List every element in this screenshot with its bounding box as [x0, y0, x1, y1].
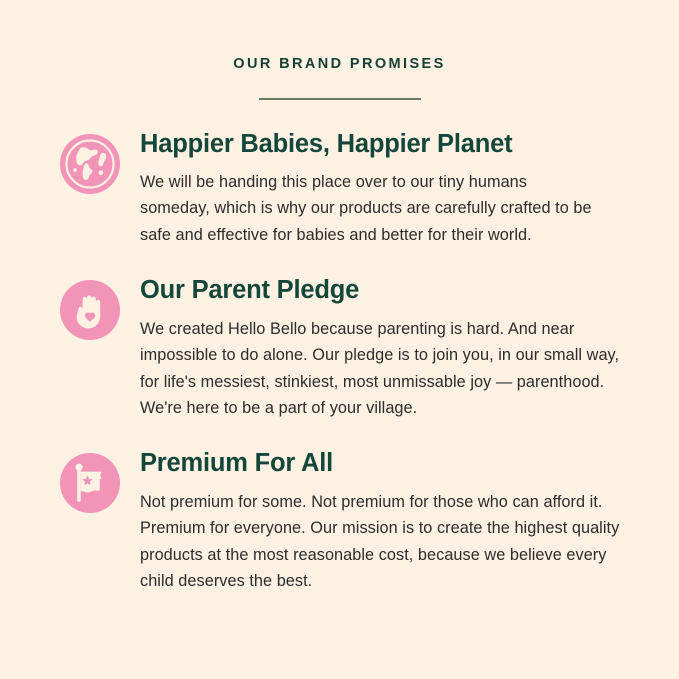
promise-content: Happier Babies, Happier Planet We will b… — [140, 130, 633, 249]
promise-text: Not premium for some. Not premium for th… — [140, 489, 620, 595]
promise-text: We created Hello Bello because parenting… — [140, 316, 624, 422]
promise-item-premium-for-all: Premium For All Not premium for some. No… — [60, 449, 633, 594]
globe-icon — [60, 134, 120, 194]
brand-promises-page: OUR BRAND PROMISES — [0, 0, 679, 679]
promise-content: Our Parent Pledge We created Hello Bello… — [140, 276, 633, 421]
promise-item-parent-pledge: Our Parent Pledge We created Hello Bello… — [60, 276, 633, 421]
page-header: OUR BRAND PROMISES — [0, 0, 679, 100]
promise-title: Premium For All — [140, 449, 633, 478]
page-title: OUR BRAND PROMISES — [0, 57, 679, 72]
header-divider — [259, 98, 421, 100]
promise-list: Happier Babies, Happier Planet We will b… — [0, 130, 679, 595]
promise-title: Our Parent Pledge — [140, 276, 633, 305]
hand-heart-icon — [60, 280, 120, 340]
promise-text: We will be handing this place over to ou… — [140, 169, 592, 248]
promise-title: Happier Babies, Happier Planet — [140, 130, 633, 159]
promise-content: Premium For All Not premium for some. No… — [140, 449, 633, 594]
flag-star-icon — [60, 453, 120, 513]
promise-item-happier-planet: Happier Babies, Happier Planet We will b… — [60, 130, 633, 249]
